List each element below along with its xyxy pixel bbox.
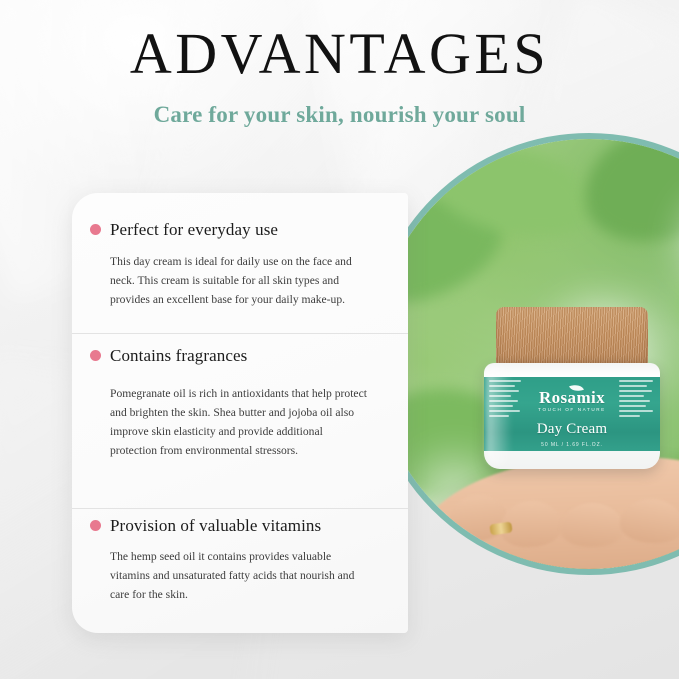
bullet-icon [90, 224, 101, 235]
product-jar: Rosamix TOUCH OF NATURE Day Cream 50 ML … [478, 307, 666, 475]
advantages-card: Perfect for everyday use This day cream … [72, 193, 408, 633]
product-volume: 50 ML / 1.69 FL.OZ. [530, 442, 614, 448]
jar-highlight [486, 365, 512, 465]
advantage-item: Contains fragrances Pomegranate oil is r… [72, 345, 408, 460]
brand-tagline: TOUCH OF NATURE [530, 406, 614, 414]
advantage-heading-row: Contains fragrances [90, 345, 386, 366]
advantage-heading: Provision of valuable vitamins [110, 515, 321, 536]
product-photo: Rosamix TOUCH OF NATURE Day Cream 50 ML … [374, 139, 679, 569]
jar-label-center: Rosamix TOUCH OF NATURE Day Cream 50 ML … [530, 377, 614, 451]
advantage-item: Perfect for everyday use This day cream … [72, 219, 408, 309]
page-subtitle: Care for your skin, nourish your soul [0, 100, 679, 130]
advantage-heading-row: Provision of valuable vitamins [90, 515, 386, 536]
product-name: Day Cream [530, 421, 614, 437]
advantage-body: This day cream is ideal for daily use on… [110, 252, 372, 309]
product-photo-circle: Rosamix TOUCH OF NATURE Day Cream 50 ML … [368, 133, 679, 575]
finger [560, 503, 624, 547]
bullet-icon [90, 520, 101, 531]
advantage-body: Pomegranate oil is rich in antioxidants … [110, 384, 372, 460]
section-divider [72, 333, 408, 334]
jar-wooden-lid [496, 307, 648, 367]
section-divider [72, 508, 408, 509]
advantage-heading-row: Perfect for everyday use [90, 219, 386, 240]
jar-label-ingredients-text [614, 377, 660, 451]
bullet-icon [90, 350, 101, 361]
advantage-item: Provision of valuable vitamins The hemp … [72, 515, 408, 604]
page-title: ADVANTAGES [0, 22, 679, 86]
advantages-infographic: ADVANTAGES Care for your skin, nourish y… [0, 0, 679, 679]
advantage-heading: Perfect for everyday use [110, 219, 278, 240]
brand-name: Rosamix [530, 390, 614, 406]
advantage-heading: Contains fragrances [110, 345, 247, 366]
advantage-body: The hemp seed oil it contains provides v… [110, 547, 372, 604]
